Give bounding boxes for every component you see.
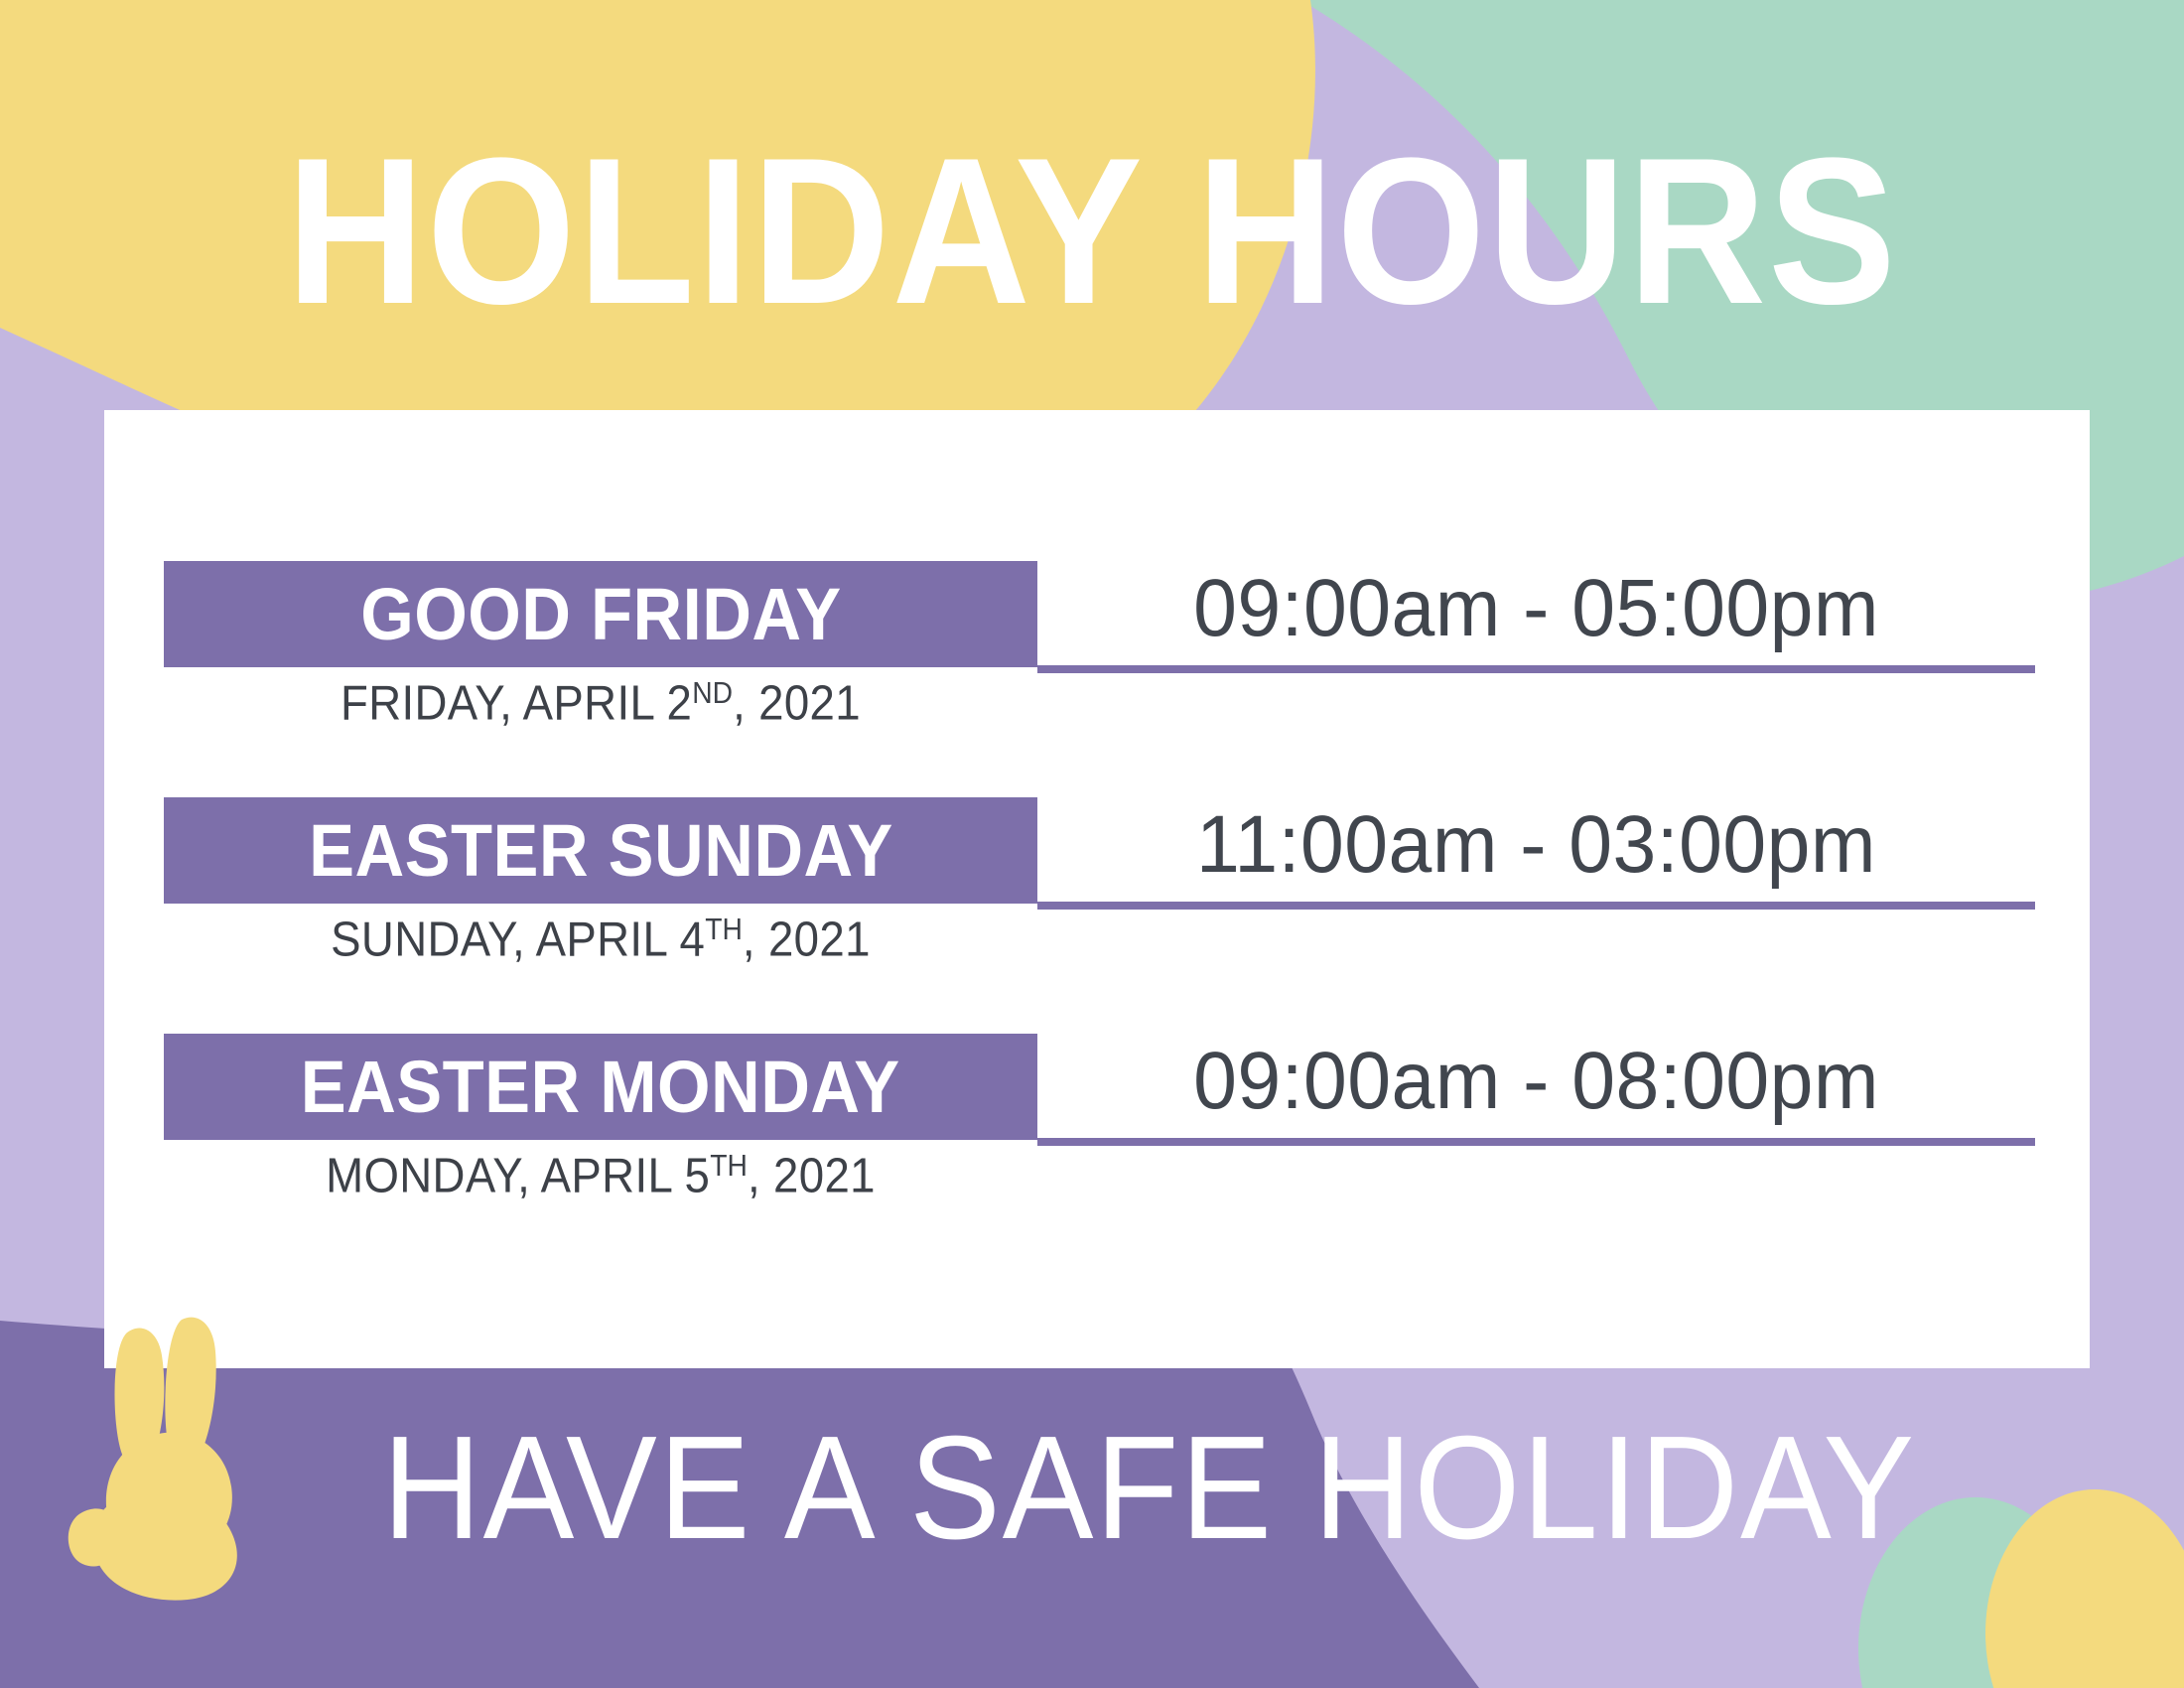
holiday-name-bar: EASTER MONDAY — [164, 1034, 1037, 1140]
holiday-hours-underline — [1037, 665, 2035, 673]
holiday-date-prefix: MONDAY, APRIL 5 — [326, 1150, 710, 1203]
holiday-hours-poster: HOLIDAY HOURS GOOD FRIDAY FRIDAY, APRIL … — [0, 0, 2184, 1688]
holiday-date-ordinal: TH — [710, 1149, 748, 1183]
holiday-date-prefix: FRIDAY, APRIL 2 — [341, 677, 692, 731]
holiday-date-label: SUNDAY, APRIL 4TH, 2021 — [195, 914, 1007, 965]
holiday-name-bar: GOOD FRIDAY — [164, 561, 1037, 667]
holiday-date-ordinal: ND — [692, 676, 733, 710]
holiday-date-prefix: SUNDAY, APRIL 4 — [331, 914, 705, 967]
holiday-hours-label: 09:00am - 08:00pm — [1057, 1034, 2015, 1130]
holiday-hours-underline — [1037, 902, 2035, 910]
holiday-hours-label: 09:00am - 05:00pm — [1057, 561, 2015, 657]
schedule-row: EASTER MONDAY MONDAY, APRIL 5TH, 2021 09… — [104, 1034, 2090, 1262]
holiday-name-label: EASTER MONDAY — [301, 1051, 900, 1124]
easter-egg-yellow-icon — [1985, 1489, 2184, 1688]
holiday-hours-group: 09:00am - 08:00pm — [1037, 1034, 2035, 1143]
schedule-row: GOOD FRIDAY FRIDAY, APRIL 2ND, 2021 09:0… — [104, 561, 2090, 789]
holiday-hours-underline — [1037, 1138, 2035, 1146]
holiday-hours-group: 11:00am - 03:00pm — [1037, 797, 2035, 907]
holiday-date-ordinal: TH — [705, 913, 743, 946]
holiday-name-label: GOOD FRIDAY — [360, 578, 841, 651]
schedule-rows: GOOD FRIDAY FRIDAY, APRIL 2ND, 2021 09:0… — [104, 410, 2090, 1368]
schedule-row: EASTER SUNDAY SUNDAY, APRIL 4TH, 2021 11… — [104, 797, 2090, 1026]
holiday-date-label: MONDAY, APRIL 5TH, 2021 — [195, 1151, 1007, 1201]
holiday-date-suffix: , 2021 — [733, 677, 861, 731]
bunny-silhouette-icon — [55, 1316, 303, 1604]
holiday-name-label: EASTER SUNDAY — [309, 814, 893, 888]
holiday-date-suffix: , 2021 — [748, 1150, 876, 1203]
schedule-card: GOOD FRIDAY FRIDAY, APRIL 2ND, 2021 09:0… — [104, 410, 2090, 1368]
holiday-name-bar: EASTER SUNDAY — [164, 797, 1037, 904]
holiday-date-suffix: , 2021 — [743, 914, 871, 967]
holiday-hours-group: 09:00am - 05:00pm — [1037, 561, 2035, 670]
holiday-date-label: FRIDAY, APRIL 2ND, 2021 — [195, 678, 1007, 729]
footer-message: HAVE A SAFE HOLIDAY — [382, 1415, 1841, 1562]
holiday-hours-label: 11:00am - 03:00pm — [1057, 797, 2015, 894]
page-title: HOLIDAY HOURS — [87, 127, 2097, 336]
